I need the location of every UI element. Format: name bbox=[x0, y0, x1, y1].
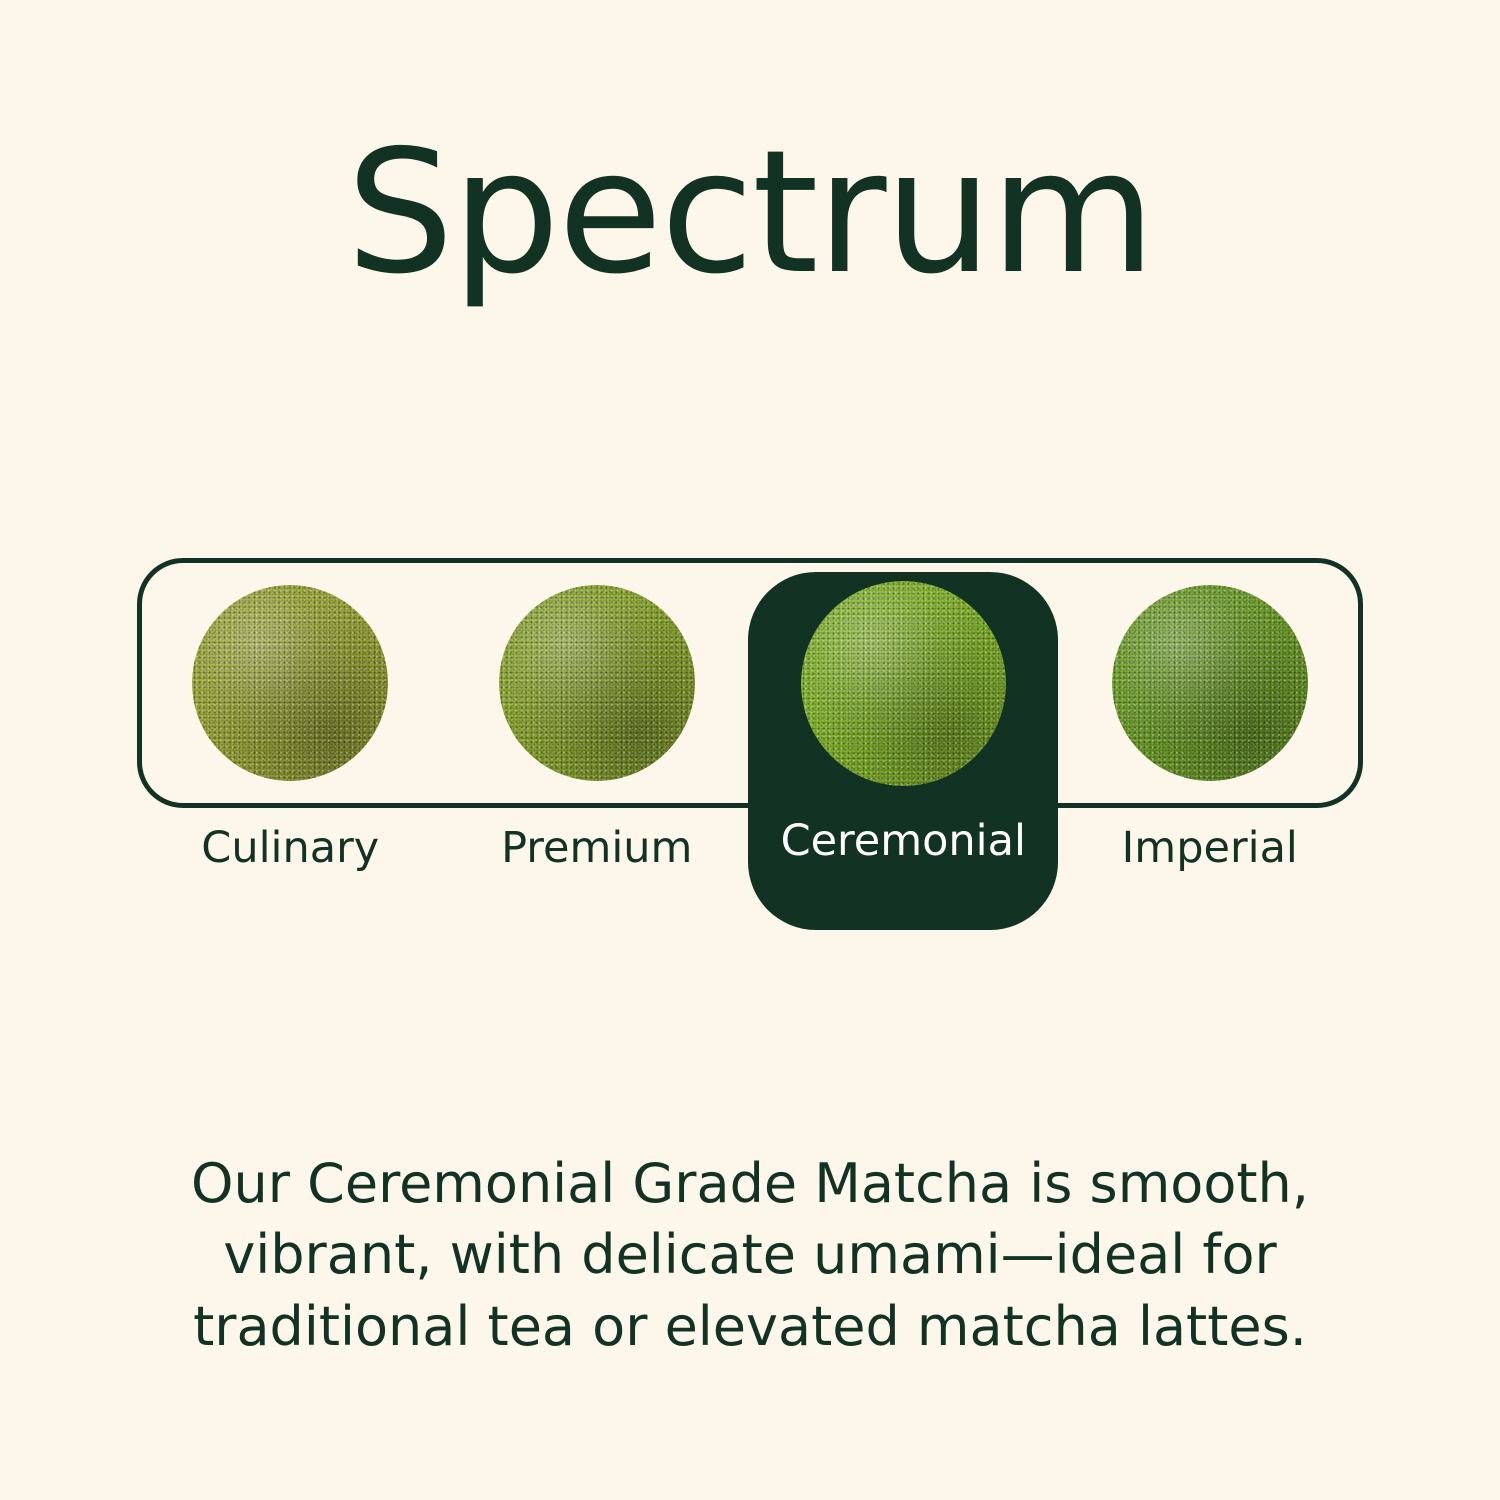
grade-list: Culinary Premium Ceremonial Imperial bbox=[137, 558, 1363, 808]
grade-label-ceremonial: Ceremonial bbox=[750, 816, 1057, 866]
grade-label-premium: Premium bbox=[444, 823, 751, 873]
grade-spectrum-selector: Culinary Premium Ceremonial Imperial bbox=[137, 558, 1363, 808]
grade-swatch-imperial bbox=[1057, 558, 1364, 808]
grade-swatch-culinary bbox=[137, 558, 444, 808]
grade-option-premium[interactable]: Premium bbox=[444, 558, 751, 808]
matcha-powder-icon bbox=[1112, 585, 1308, 781]
grade-option-culinary[interactable]: Culinary bbox=[137, 558, 444, 808]
page-title: Spectrum bbox=[0, 128, 1500, 298]
grade-description: Our Ceremonial Grade Matcha is smooth, v… bbox=[105, 1148, 1395, 1362]
matcha-powder-icon bbox=[801, 581, 1006, 786]
grade-option-imperial[interactable]: Imperial bbox=[1057, 558, 1364, 808]
grade-label-imperial: Imperial bbox=[1057, 823, 1364, 873]
grade-option-ceremonial[interactable]: Ceremonial bbox=[750, 558, 1057, 808]
grade-label-culinary: Culinary bbox=[137, 823, 444, 873]
grade-swatch-premium bbox=[444, 558, 751, 808]
grade-swatch-ceremonial bbox=[750, 558, 1057, 808]
matcha-powder-icon bbox=[192, 585, 388, 781]
matcha-powder-icon bbox=[499, 585, 695, 781]
